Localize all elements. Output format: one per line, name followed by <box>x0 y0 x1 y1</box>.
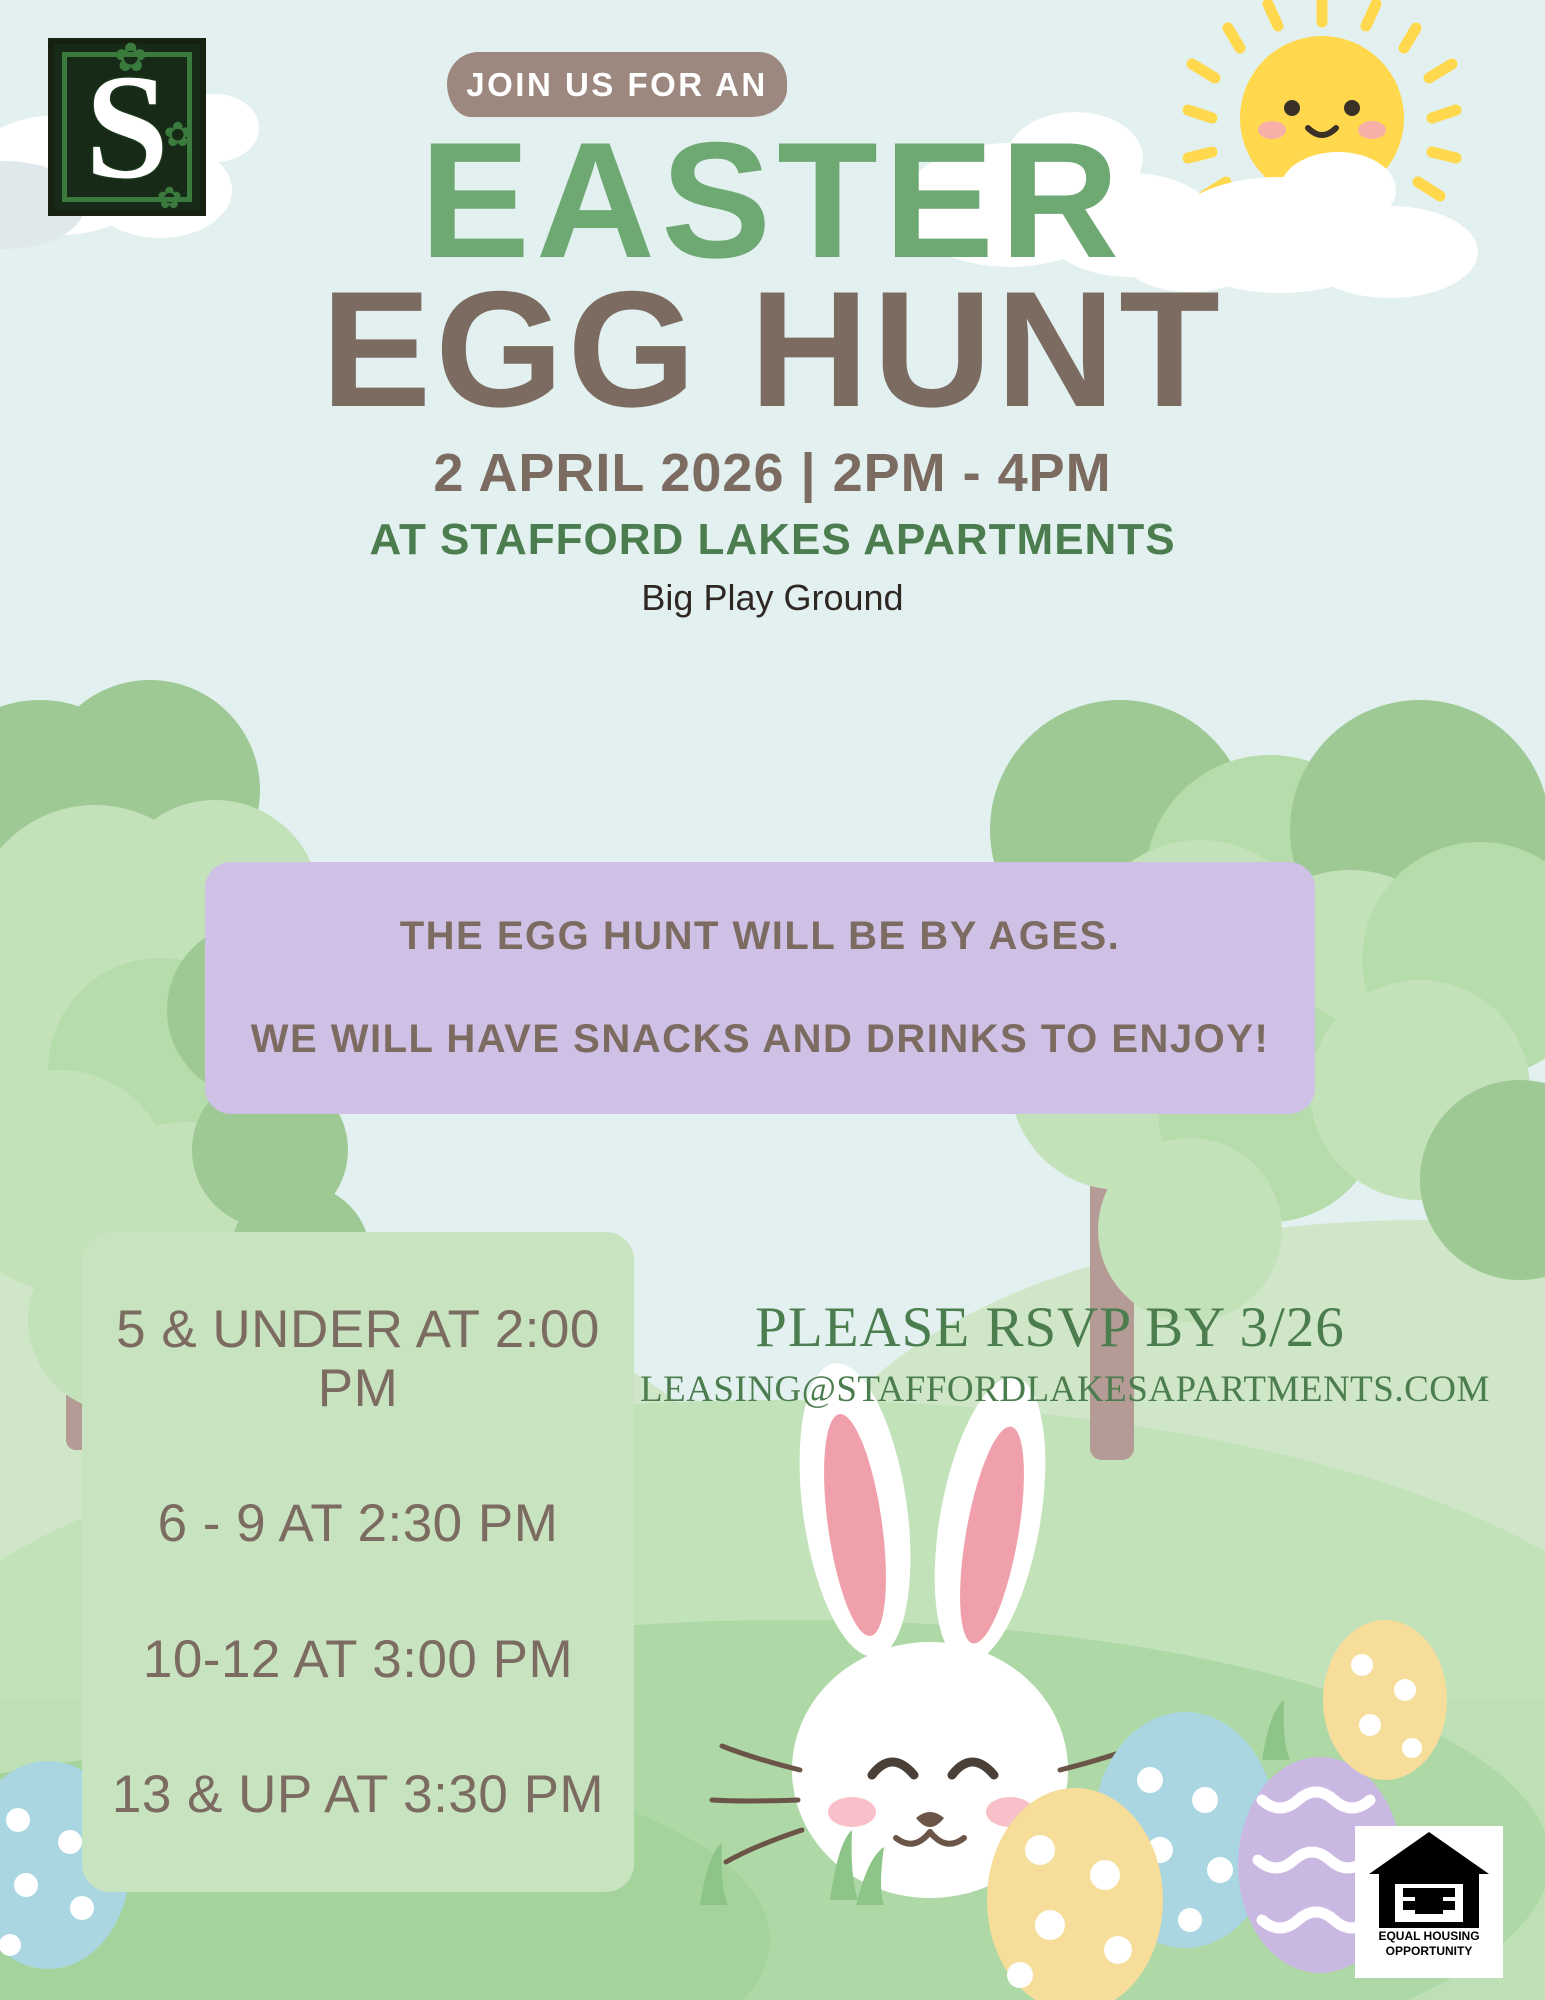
schedule-slot-3: 10-12 AT 3:00 PM <box>104 1630 612 1689</box>
easter-egg-blue-right <box>1093 1712 1277 1948</box>
event-venue: AT STAFFORD LAKES APARTMENTS <box>0 516 1545 564</box>
event-note-box: THE EGG HUNT WILL BE BY AGES. WE WILL HA… <box>205 862 1315 1114</box>
easter-egg-yellow-center <box>987 1788 1163 2000</box>
title-block: EASTER EGG HUNT 2 APRIL 2026 | 2PM - 4PM… <box>0 125 1545 619</box>
age-schedule-box: 5 & UNDER AT 2:00 PM 6 - 9 AT 2:30 PM 10… <box>82 1232 634 1892</box>
schedule-slot-1: 5 & UNDER AT 2:00 PM <box>104 1300 612 1419</box>
rsvp-title: PLEASE RSVP BY 3/26 <box>640 1295 1460 1360</box>
join-us-label: JOIN US FOR AN <box>466 66 767 104</box>
eho-caption-line-2: OPPORTUNITY <box>1386 1945 1473 1958</box>
eho-caption-line-1: EQUAL HOUSING <box>1378 1930 1479 1943</box>
easter-egg-yellow-small <box>1323 1620 1447 1780</box>
rsvp-email[interactable]: LEASING@STAFFORDLAKESAPARTMENTS.COM <box>640 1368 1460 1411</box>
easter-egg-hunt-flyer: S ✿ ✿ ✿ JOIN US FOR AN EASTER EGG HUNT 2… <box>0 0 1545 2000</box>
schedule-slot-4: 13 & UP AT 3:30 PM <box>104 1765 612 1824</box>
house-icon <box>1369 1832 1489 1928</box>
ivy-leaf-icon-bottom: ✿ <box>157 184 182 214</box>
equal-sign-stem <box>1415 1892 1443 1914</box>
event-location-detail: Big Play Ground <box>0 577 1545 619</box>
ivy-leaf-icon-mid: ✿ <box>164 118 193 152</box>
event-datetime: 2 APRIL 2026 | 2PM - 4PM <box>0 442 1545 504</box>
ivy-leaf-icon-top: ✿ <box>114 38 148 78</box>
grass-tuft <box>700 1700 1290 1905</box>
equal-housing-opportunity-logo: EQUAL HOUSING OPPORTUNITY <box>1355 1826 1503 1978</box>
rsvp-block: PLEASE RSVP BY 3/26 LEASING@STAFFORDLAKE… <box>640 1295 1460 1411</box>
schedule-slot-2: 6 - 9 AT 2:30 PM <box>104 1494 612 1553</box>
stafford-lakes-logo: S ✿ ✿ ✿ <box>48 38 206 216</box>
title-easter: EASTER <box>0 125 1545 277</box>
house-roof <box>1369 1832 1489 1874</box>
bunny-icon <box>712 1356 1148 1898</box>
title-egg-hunt: EGG HUNT <box>0 271 1545 428</box>
note-line-1: THE EGG HUNT WILL BE BY AGES. <box>400 911 1121 962</box>
note-line-2: WE WILL HAVE SNACKS AND DRINKS TO ENJOY! <box>251 1014 1270 1065</box>
